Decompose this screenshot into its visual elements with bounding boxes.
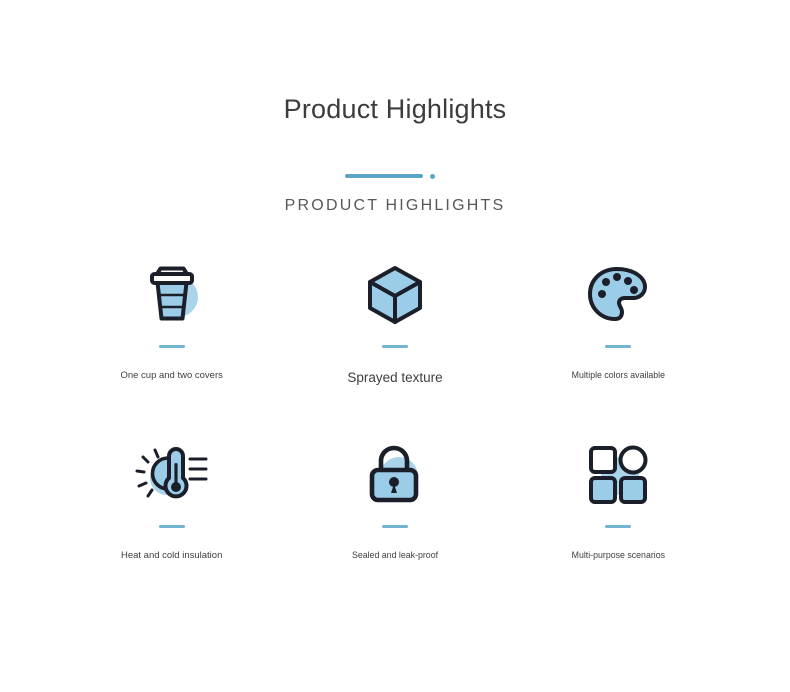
feature-dash <box>605 345 631 348</box>
feature-item: Multi-purpose scenarios <box>507 437 730 615</box>
feature-label: Multiple colors available <box>572 370 665 381</box>
page-subtitle: PRODUCT HIGHLIGHTS <box>0 197 790 215</box>
feature-dash <box>605 525 631 528</box>
product-highlights-page: Product Highlights PRODUCT HIGHLIGHTS On… <box>0 0 790 692</box>
feature-label: Multi-purpose scenarios <box>572 550 665 561</box>
padlock-icon <box>359 439 431 511</box>
feature-dash <box>382 345 408 348</box>
feature-item: Sprayed texture <box>283 259 506 437</box>
feature-label: Sealed and leak-proof <box>352 550 438 561</box>
page-header: Product Highlights PRODUCT HIGHLIGHTS <box>0 0 790 215</box>
feature-item: Heat and cold insulation <box>60 437 283 615</box>
paint-palette-icon <box>582 259 654 331</box>
feature-dash <box>382 525 408 528</box>
feature-item: One cup and two covers <box>60 259 283 437</box>
coffee-cup-icon <box>136 259 208 331</box>
feature-label: Heat and cold insulation <box>121 550 222 561</box>
feature-label: One cup and two covers <box>120 370 222 381</box>
feature-grid: One cup and two covers Sprayed texture <box>0 259 790 615</box>
feature-dash <box>159 345 185 348</box>
feature-item: Sealed and leak-proof <box>283 437 506 615</box>
thermometer-sun-icon <box>136 439 208 511</box>
feature-label: Sprayed texture <box>347 370 442 386</box>
section-divider <box>345 171 445 181</box>
page-title: Product Highlights <box>0 96 790 123</box>
divider-line <box>345 174 423 178</box>
grid-shapes-icon <box>582 439 654 511</box>
divider-dot <box>430 174 435 179</box>
feature-item: Multiple colors available <box>507 259 730 437</box>
cube-box-icon <box>359 259 431 331</box>
feature-dash <box>159 525 185 528</box>
